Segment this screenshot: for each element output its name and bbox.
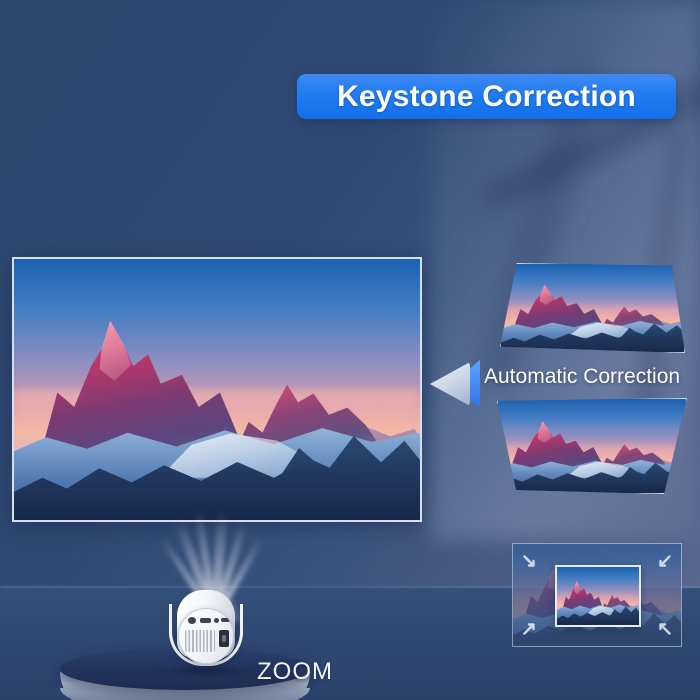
projection-screen [12,257,422,522]
zoom-label-wrap: ZOOM [0,658,700,686]
projector-rear-panel [178,608,234,664]
mountain-photo-zoom-inner [557,567,639,625]
mountain-photo-main [14,259,420,520]
hdmi-port-icon [200,618,211,623]
correction-arrow [428,358,486,410]
page-title-badge: Keystone Correction [297,74,676,119]
zoom-label: ZOOM [257,658,333,686]
projector-vent-grille [185,630,215,652]
page-title: Keystone Correction [337,80,636,114]
keystone-distorted-top [500,263,685,353]
power-port-icon [188,617,196,624]
zoom-crop-frame[interactable] [555,565,641,627]
zoom-preview-panel [512,543,682,647]
mountain-photo-thumb-top [501,264,684,352]
arrow-bottom-left-inward-icon[interactable] [523,621,537,635]
arrow-top-right-inward-icon[interactable] [657,555,671,569]
projector-power-switch [219,630,229,647]
mountain-photo-thumb-bottom [498,399,686,493]
product-feature-graphic: Keystone Correction [0,0,700,700]
arrow-white-layer-icon [430,362,470,406]
projector-port-row [188,617,226,624]
automatic-correction-label: Automatic Correction [484,365,680,389]
aux-port-icon [214,618,219,623]
keystone-distorted-bottom [497,398,687,494]
arrow-top-left-inward-icon[interactable] [523,555,537,569]
usb-port-icon [221,618,230,622]
arrow-bottom-right-inward-icon[interactable] [657,621,671,635]
